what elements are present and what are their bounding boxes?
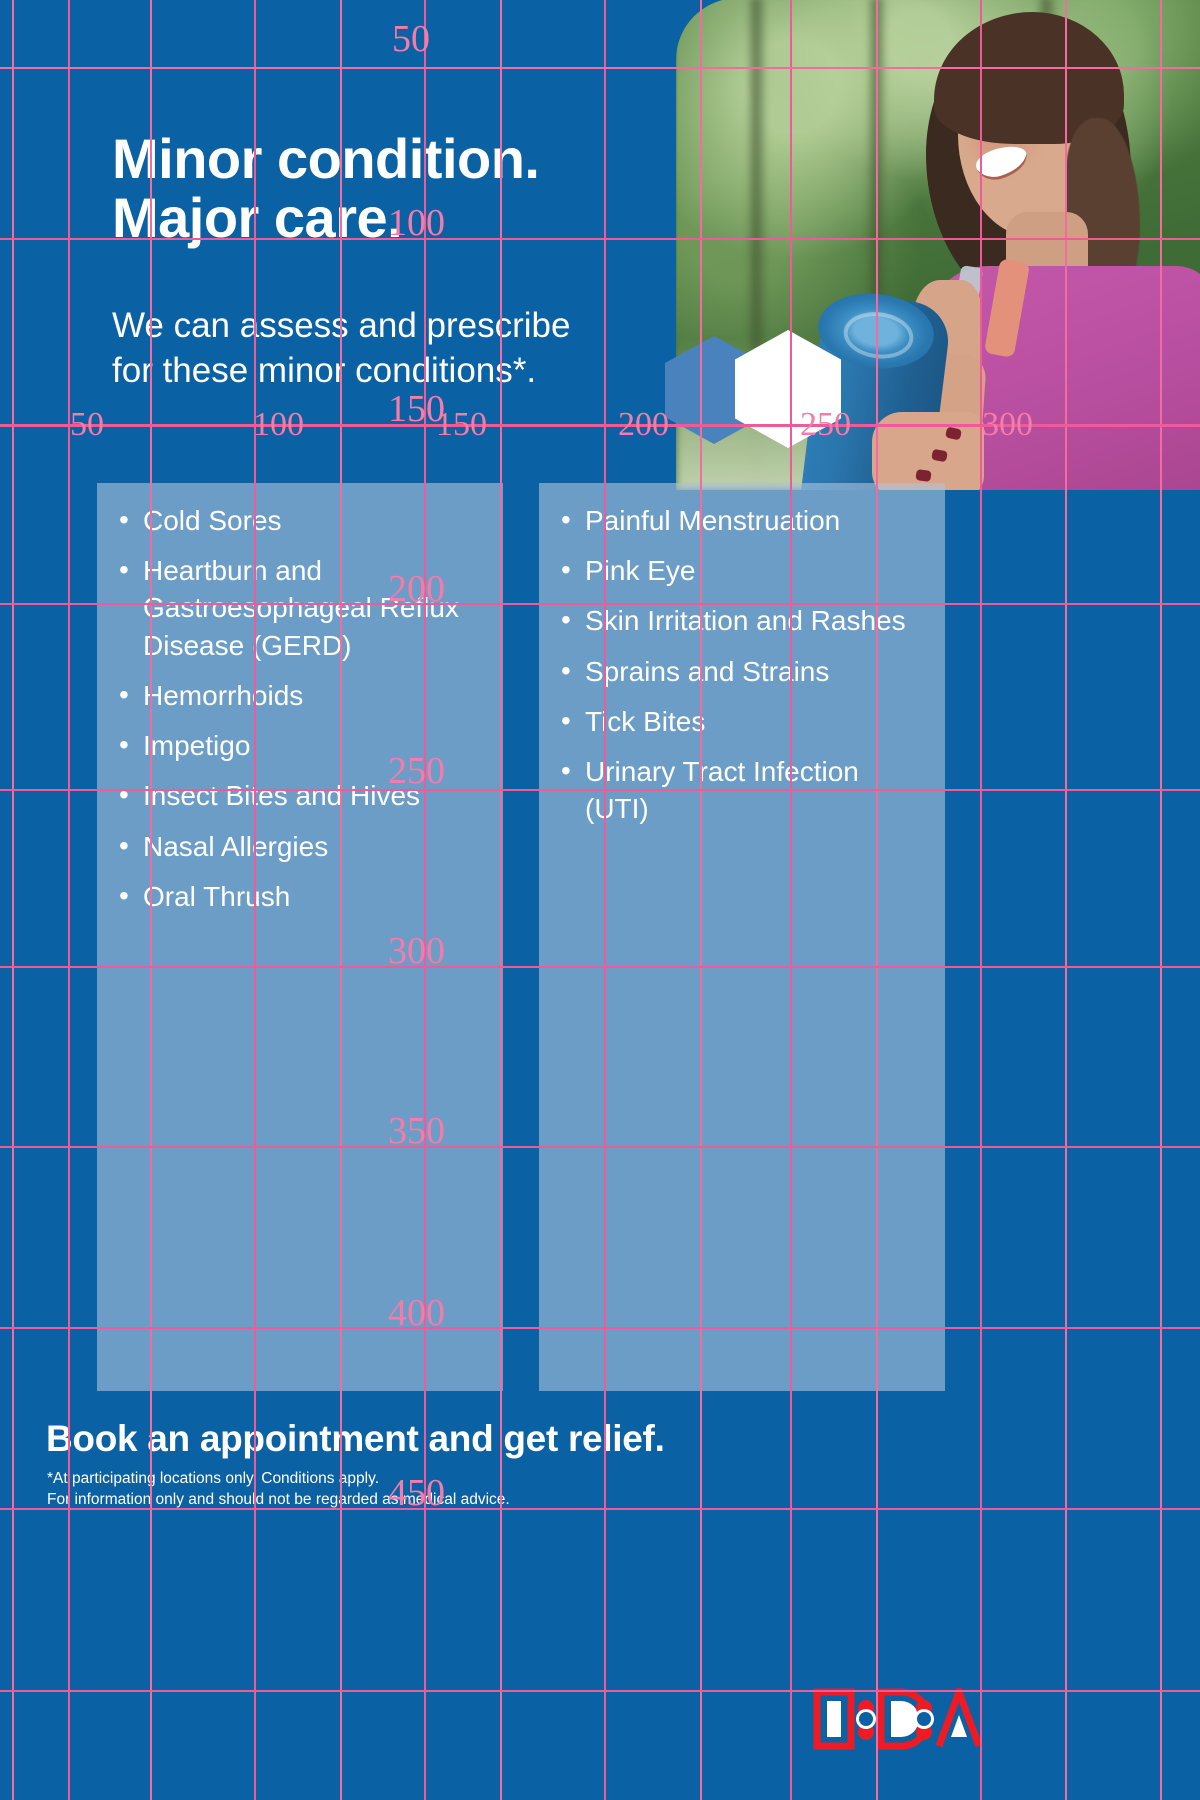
conditions-list-right: Painful Menstruation Pink Eye Skin Irrit… bbox=[539, 483, 945, 841]
list-item: Sprains and Strains bbox=[559, 653, 929, 690]
subheading-line-2: for these minor conditions*. bbox=[112, 349, 692, 394]
list-item: Urinary Tract Infection (UTI) bbox=[559, 753, 929, 827]
disclaimer-line-1: *At participating locations only. Condit… bbox=[47, 1468, 667, 1489]
subheading: We can assess and prescribe for these mi… bbox=[112, 304, 692, 394]
grid-label: 50 bbox=[70, 408, 104, 442]
list-item: Tick Bites bbox=[559, 703, 929, 740]
headline-line-2: Major care. bbox=[112, 189, 712, 248]
list-item: Painful Menstruation bbox=[559, 502, 929, 539]
list-item: Hemorrhoids bbox=[117, 677, 487, 714]
grid-label: 150 bbox=[436, 408, 487, 442]
subheading-line-1: We can assess and prescribe bbox=[112, 304, 692, 349]
grid-label: 150 bbox=[388, 390, 445, 428]
list-item: Insect Bites and Hives bbox=[117, 777, 487, 814]
poster-canvas: Minor condition. Major care. We can asse… bbox=[0, 0, 1200, 1800]
grid-label: 200 bbox=[618, 408, 669, 442]
list-item: Heartburn and Gastroesophageal Reflux Di… bbox=[117, 552, 487, 664]
list-item: Impetigo bbox=[117, 727, 487, 764]
conditions-panel-right: Painful Menstruation Pink Eye Skin Irrit… bbox=[539, 483, 945, 1391]
list-item: Pink Eye bbox=[559, 552, 929, 589]
list-item: Skin Irritation and Rashes bbox=[559, 602, 929, 639]
disclaimer-line-2: For information only and should not be r… bbox=[47, 1489, 667, 1510]
page-title: Minor condition. Major care. bbox=[112, 130, 712, 248]
conditions-list-left: Cold Sores Heartburn and Gastroesophagea… bbox=[97, 483, 503, 928]
grid-label: 50 bbox=[392, 20, 430, 58]
disclaimer: *At participating locations only. Condit… bbox=[47, 1468, 667, 1511]
fingernail bbox=[915, 469, 931, 482]
list-item: Cold Sores bbox=[117, 502, 487, 539]
fingernail bbox=[931, 449, 948, 462]
grid-label: 100 bbox=[253, 408, 304, 442]
ida-logo bbox=[813, 1688, 985, 1750]
list-item: Oral Thrush bbox=[117, 878, 487, 915]
headline-line-1: Minor condition. bbox=[112, 127, 539, 190]
list-item: Nasal Allergies bbox=[117, 828, 487, 865]
call-to-action: Book an appointment and get relief. bbox=[46, 1418, 665, 1460]
conditions-panel-left: Cold Sores Heartburn and Gastroesophagea… bbox=[97, 483, 503, 1391]
ida-logo-mark bbox=[813, 1688, 985, 1750]
